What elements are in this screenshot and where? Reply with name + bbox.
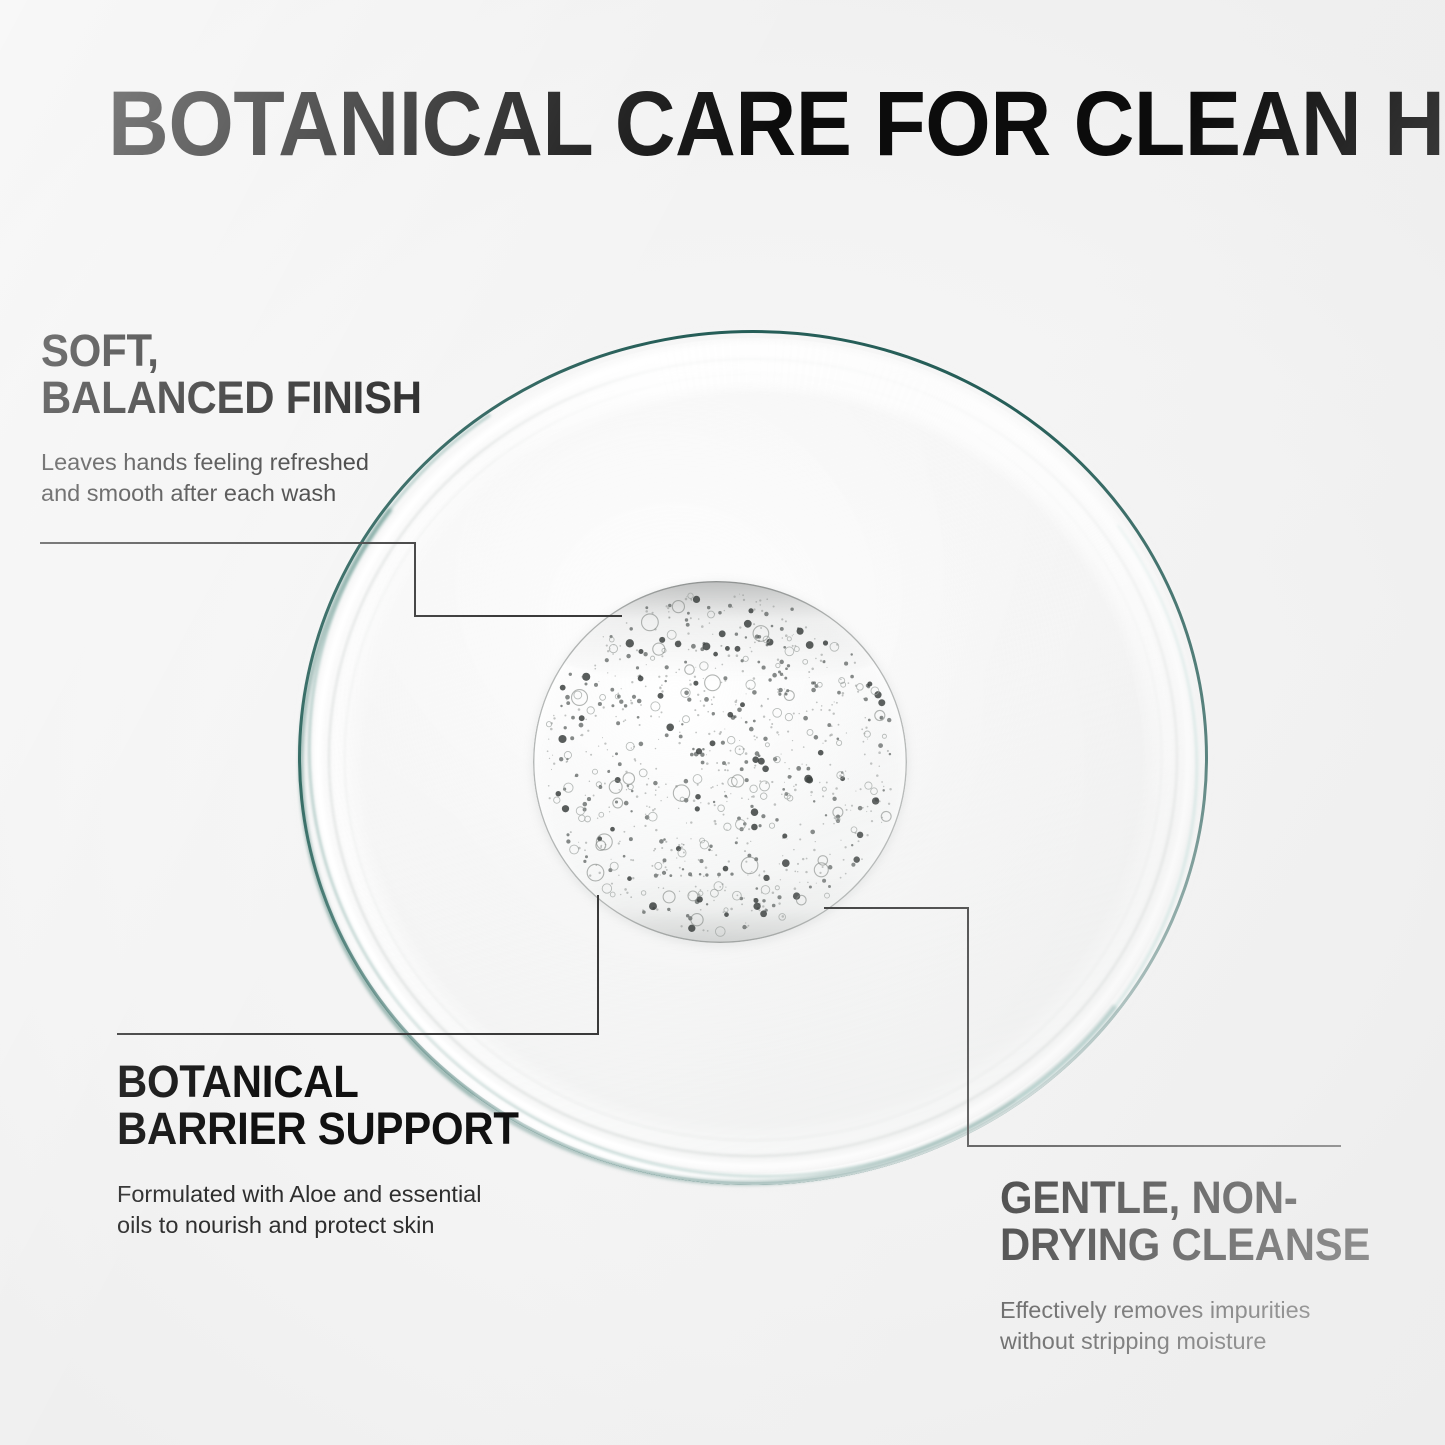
- callout-soft-balanced-finish: SOFT, BALANCED FINISH Leaves hands feeli…: [41, 327, 461, 509]
- callout-title: SOFT, BALANCED FINISH: [41, 327, 432, 421]
- callout-title: GENTLE, NON- DRYING CLEANSE: [1000, 1174, 1372, 1268]
- callout-gentle-non-drying-cleanse: GENTLE, NON- DRYING CLEANSE Effectively …: [1000, 1174, 1400, 1357]
- callout-botanical-barrier-support: BOTANICAL BARRIER SUPPORT Formulated wit…: [117, 1058, 577, 1241]
- callout-body: Leaves hands feeling refreshed and smoot…: [41, 447, 461, 509]
- callout-body: Formulated with Aloe and essential oils …: [117, 1179, 577, 1241]
- infographic-page: BOTANICAL CARE FOR CLEAN HANDS SOFT, BAL…: [0, 0, 1445, 1445]
- page-title: BOTANICAL CARE FOR CLEAN HANDS: [108, 78, 1252, 170]
- callout-title: BOTANICAL BARRIER SUPPORT: [117, 1058, 545, 1152]
- callout-body: Effectively removes impurities without s…: [1000, 1295, 1400, 1357]
